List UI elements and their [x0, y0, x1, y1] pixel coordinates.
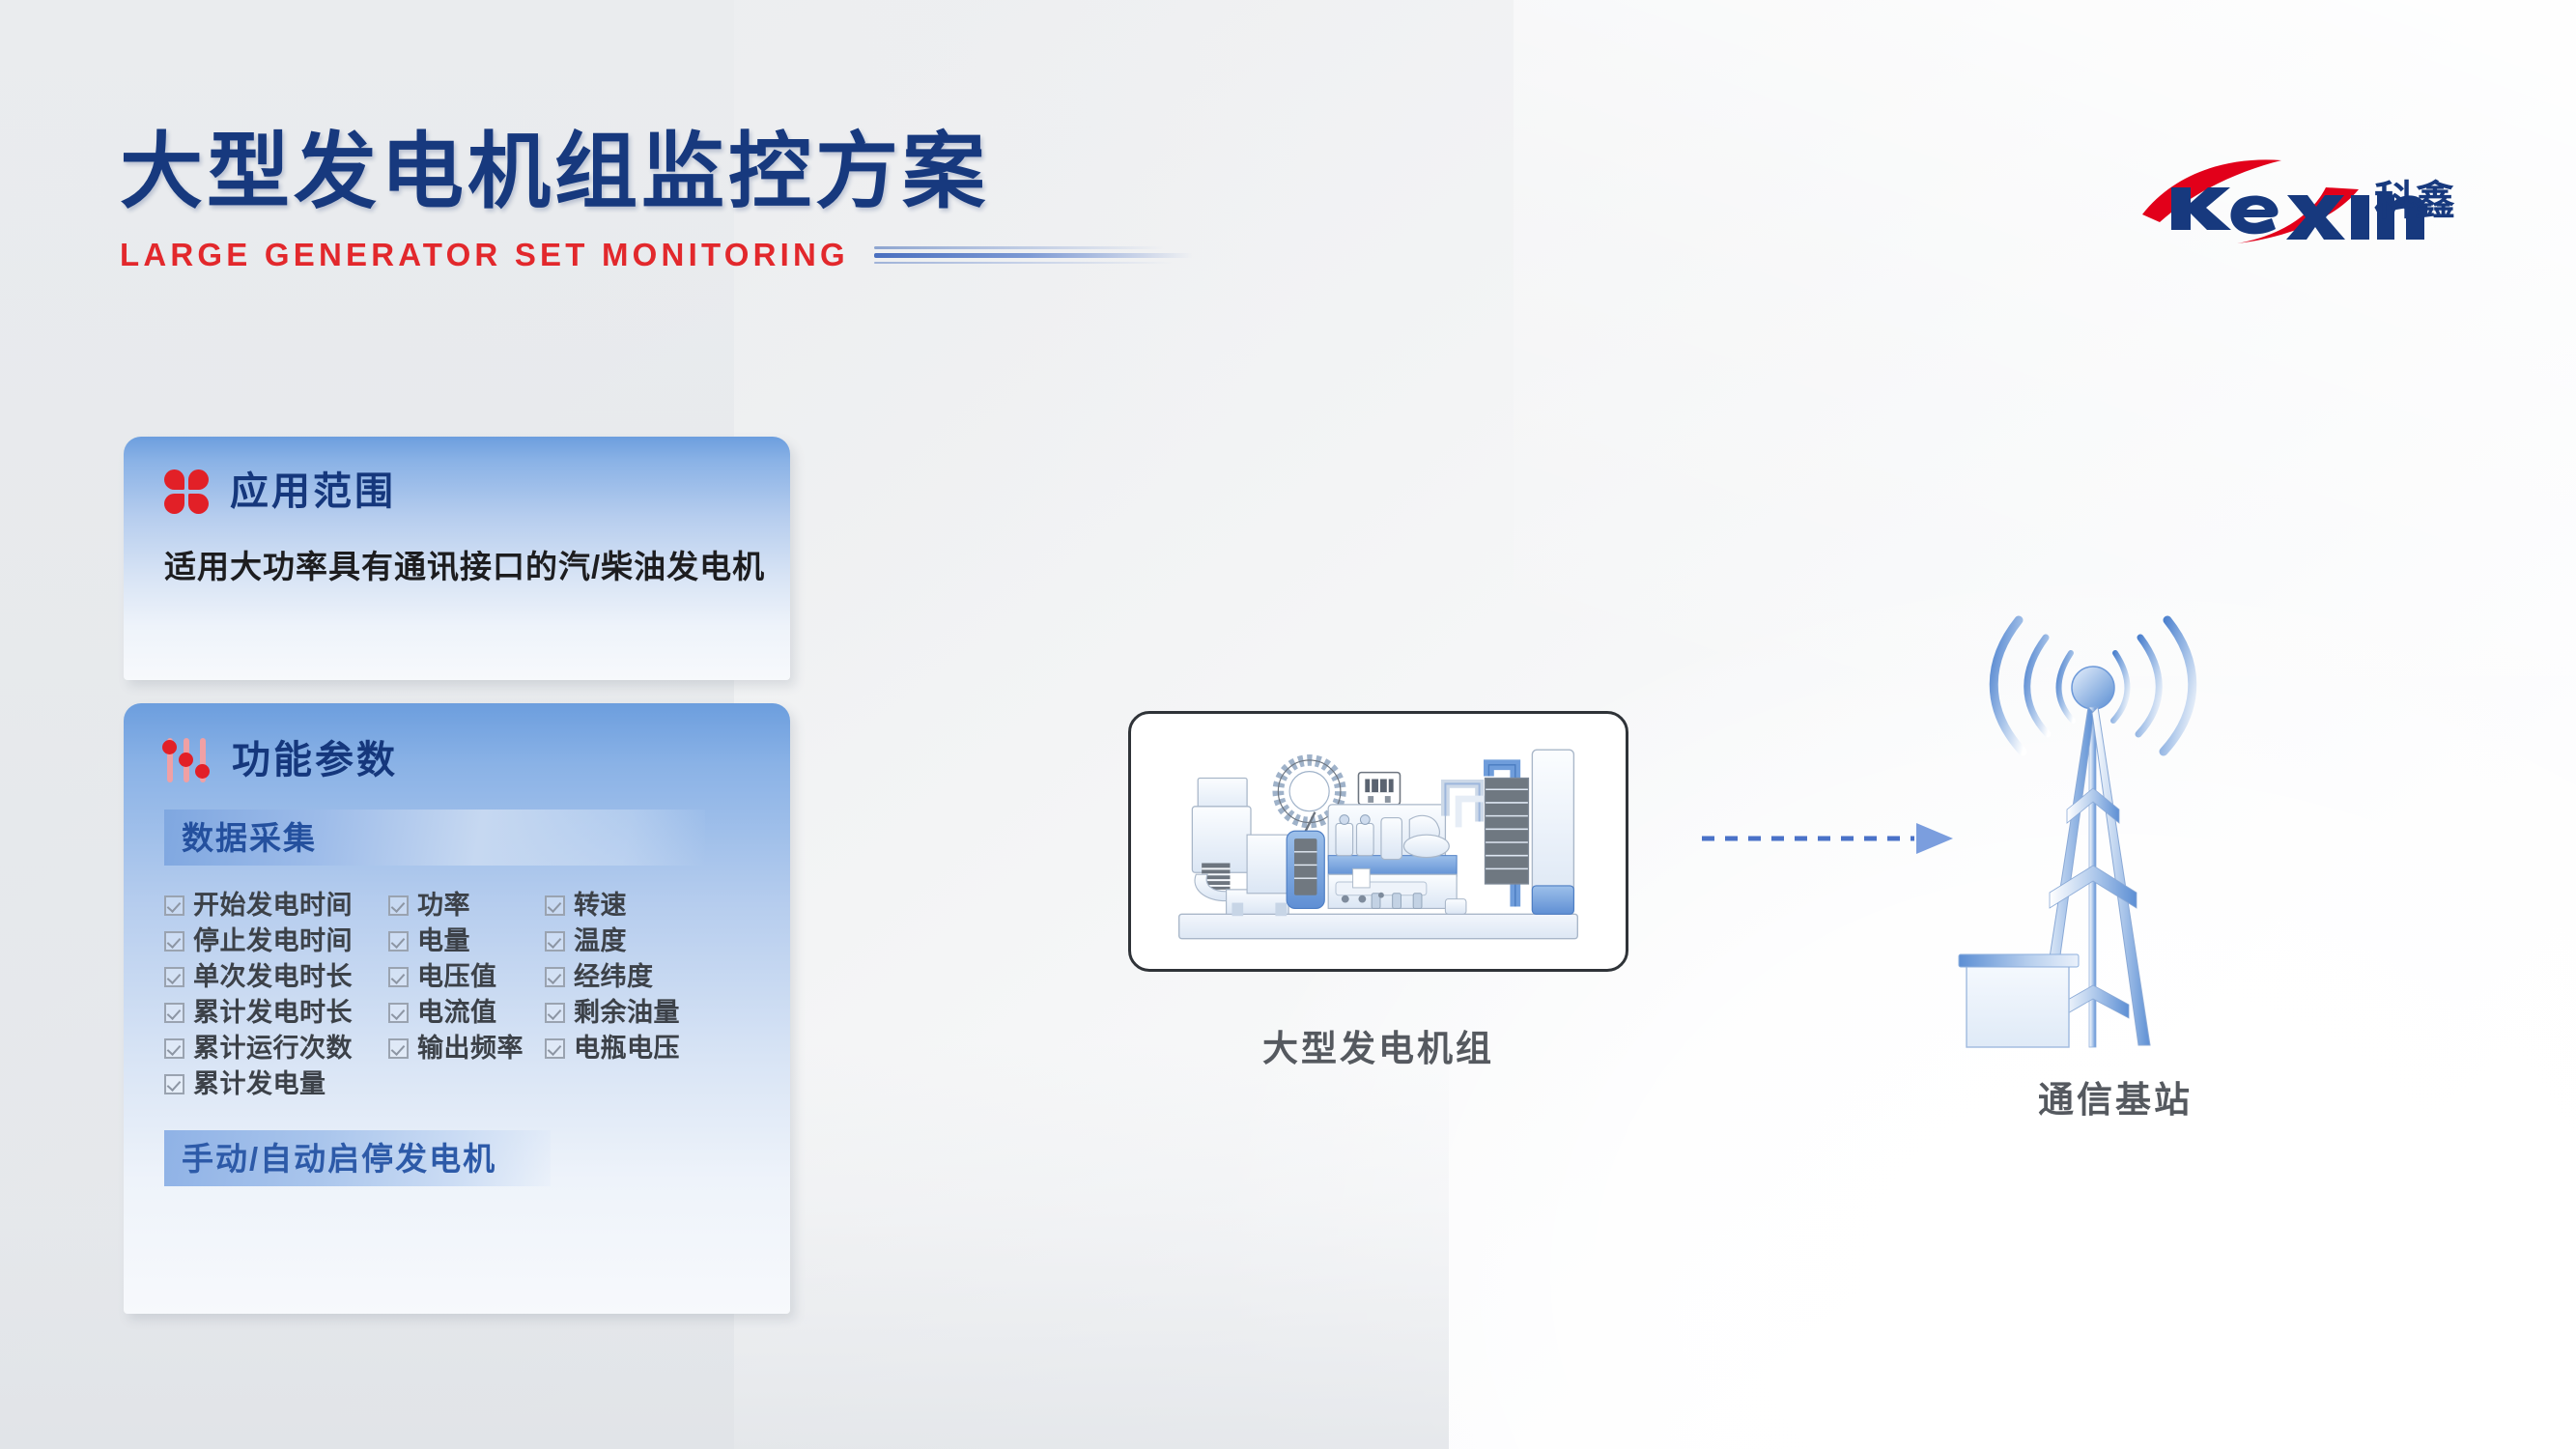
communication-tower-illustration: [1953, 599, 2272, 1063]
generator-caption: 大型发电机组: [1128, 1019, 1628, 1071]
checklist-item[interactable]: 电流值: [388, 1000, 545, 1026]
clover-icon: [164, 469, 209, 514]
checklist-item[interactable]: 剩余油量: [545, 1000, 744, 1026]
checkbox-checked-icon[interactable]: [388, 895, 409, 916]
card-scope-body: 适用大功率具有通讯接口的汽/柴油发电机: [124, 514, 790, 588]
checklist-item-label: 累计发电量: [193, 1071, 326, 1097]
checklist-item[interactable]: 电瓶电压: [545, 1036, 744, 1062]
band-data-collection: 数据采集: [164, 810, 705, 866]
checklist-item-label: 温度: [574, 928, 627, 954]
checklist-item-label: 功率: [417, 893, 470, 919]
checkbox-checked-icon[interactable]: [545, 1003, 565, 1023]
checklist-item[interactable]: 停止发电时间: [164, 928, 388, 954]
checklist-item-label: 开始发电时间: [193, 893, 353, 919]
checklist-item[interactable]: 经纬度: [545, 964, 744, 990]
checkbox-checked-icon[interactable]: [545, 967, 565, 987]
checklist-item-label: 电压值: [417, 964, 497, 990]
checklist-item[interactable]: 电量: [388, 928, 545, 954]
card-application-scope: 应用范围 适用大功率具有通讯接口的汽/柴油发电机: [124, 437, 790, 680]
checklist-item-label: 电流值: [417, 1000, 497, 1026]
checklist-item[interactable]: 开始发电时间: [164, 893, 388, 919]
checklist-item[interactable]: 累计发电量: [164, 1071, 388, 1097]
card-scope-header: 应用范围: [124, 437, 790, 514]
checklist-item-label: 输出频率: [417, 1036, 524, 1062]
card-scope-title: 应用范围: [230, 472, 396, 511]
checklist-item[interactable]: 电压值: [388, 964, 545, 990]
band-data-collection-label: 数据采集: [182, 822, 317, 854]
checklist-grid: 开始发电时间功率转速停止发电时间电量温度单次发电时长电压值经纬度累计发电时长电流…: [164, 893, 744, 1097]
sliders-icon: [164, 736, 211, 784]
page-subtitle-row: LARGE GENERATOR SET MONITORING: [120, 239, 1193, 270]
checkbox-checked-icon[interactable]: [545, 895, 565, 916]
band-manual-auto: 手动/自动启停发电机: [164, 1130, 551, 1186]
tower-caption: 通信基站: [1941, 1070, 2289, 1122]
checklist-item[interactable]: 温度: [545, 928, 744, 954]
checklist-item[interactable]: 单次发电时长: [164, 964, 388, 990]
checklist-item-label: 累计运行次数: [193, 1036, 353, 1062]
checklist-item-label: 单次发电时长: [193, 964, 353, 990]
logo-svg: 科鑫: [2137, 155, 2465, 247]
page-subtitle: LARGE GENERATOR SET MONITORING: [120, 239, 849, 270]
checklist-item[interactable]: 转速: [545, 893, 744, 919]
checklist-item-label: 停止发电时间: [193, 928, 353, 954]
checkbox-checked-icon[interactable]: [388, 931, 409, 952]
checklist-item-label: 累计发电时长: [193, 1000, 353, 1026]
generator-image-frame: [1128, 711, 1628, 972]
title-rule-lines: [874, 244, 1193, 266]
checkbox-checked-icon[interactable]: [388, 1003, 409, 1023]
card-function-header: 功能参数: [124, 703, 790, 784]
background-wash-top-right: [1514, 0, 2576, 676]
checkbox-checked-icon[interactable]: [545, 931, 565, 952]
checkbox-checked-icon[interactable]: [164, 1003, 184, 1023]
page-title: 大型发电机组监控方案: [120, 130, 1193, 213]
checkbox-checked-icon[interactable]: [164, 1074, 184, 1094]
checkbox-checked-icon[interactable]: [164, 967, 184, 987]
checkbox-checked-icon[interactable]: [164, 895, 184, 916]
slide-root: 大型发电机组监控方案 LARGE GENERATOR SET MONITORIN…: [0, 0, 2576, 1449]
arrow-svg: [1700, 819, 1961, 858]
data-flow-arrow: [1700, 819, 1961, 858]
generator-illustration: [1131, 714, 1626, 969]
checklist-item-label: 经纬度: [574, 964, 654, 990]
checkbox-checked-icon[interactable]: [388, 967, 409, 987]
checklist-item-label: 转速: [574, 893, 627, 919]
card-function-parameters: 功能参数 数据采集 开始发电时间功率转速停止发电时间电量温度单次发电时长电压值经…: [124, 703, 790, 1314]
checklist-item[interactable]: 输出频率: [388, 1036, 545, 1062]
checklist-item-label: 电瓶电压: [574, 1036, 680, 1062]
checklist-item[interactable]: 累计发电时长: [164, 1000, 388, 1026]
logo-cn-text: 科鑫: [2374, 177, 2455, 224]
checkbox-checked-icon[interactable]: [388, 1038, 409, 1059]
brand-logo: 科鑫: [2137, 155, 2465, 247]
card-function-title: 功能参数: [232, 741, 398, 780]
checklist-item[interactable]: 功率: [388, 893, 545, 919]
checklist-item[interactable]: 累计运行次数: [164, 1036, 388, 1062]
checkbox-checked-icon[interactable]: [545, 1038, 565, 1059]
page-header: 大型发电机组监控方案 LARGE GENERATOR SET MONITORIN…: [120, 130, 1193, 270]
checklist-item-label: 剩余油量: [574, 1000, 680, 1026]
tower-svg: [1953, 599, 2272, 1063]
band-manual-auto-label: 手动/自动启停发电机: [182, 1143, 496, 1175]
checkbox-checked-icon[interactable]: [164, 1038, 184, 1059]
checkbox-checked-icon[interactable]: [164, 931, 184, 952]
checklist-item-label: 电量: [417, 928, 470, 954]
logo-cn-mark: [2371, 166, 2397, 176]
